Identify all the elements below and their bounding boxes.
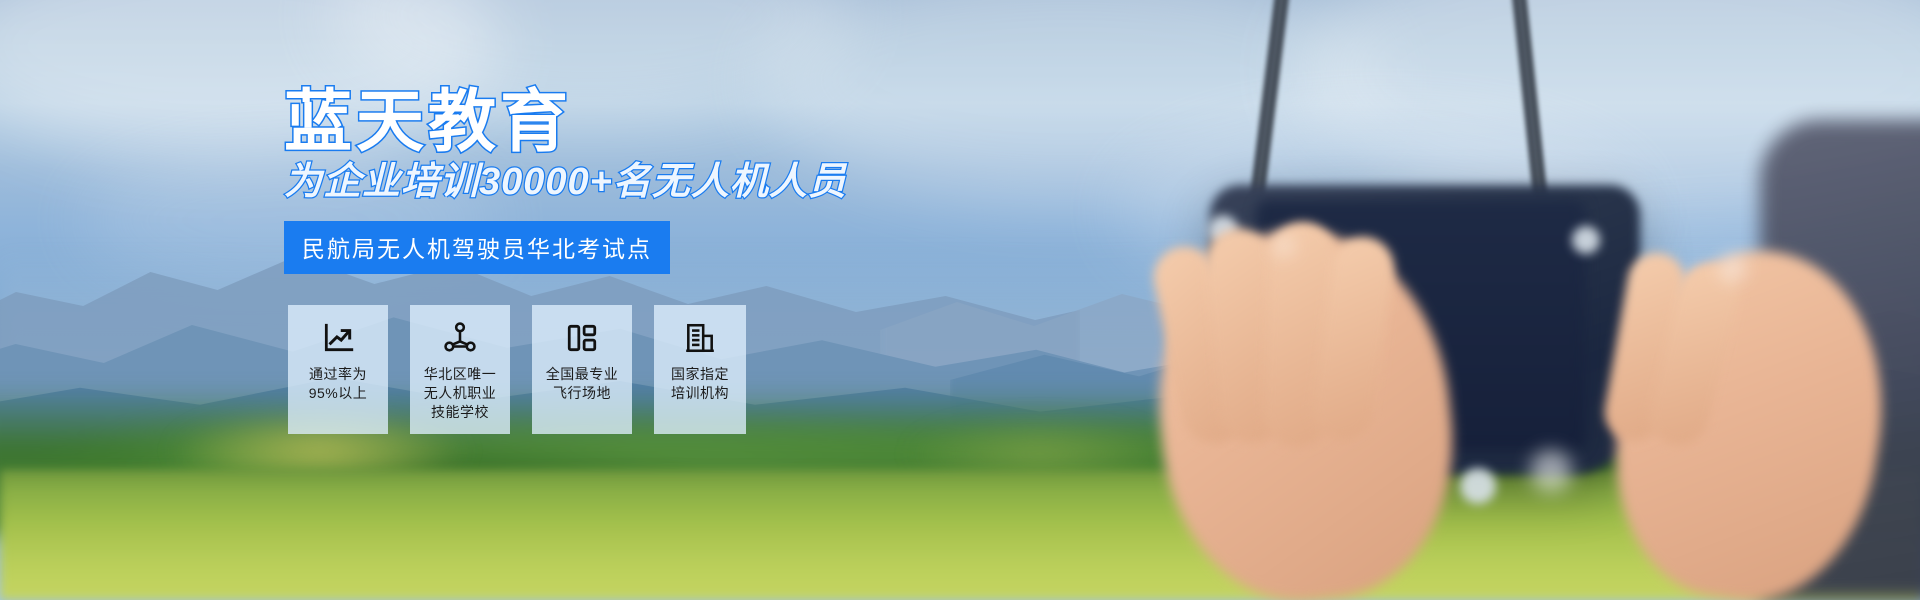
layout-grid-icon <box>565 321 599 355</box>
hero-banner: 蓝天教育 为企业培训30000+名无人机人员 民航局无人机驾驶员华北考试点 通过… <box>0 0 1920 600</box>
exam-center-badge: 民航局无人机驾驶员华北考试点 <box>284 221 670 274</box>
building-icon <box>683 321 717 355</box>
feature-card-label: 通过率为 95%以上 <box>309 365 368 403</box>
banner-content: 蓝天教育 为企业培训30000+名无人机人员 民航局无人机驾驶员华北考试点 通过… <box>0 0 1920 600</box>
network-nodes-icon <box>443 321 477 355</box>
banner-subtitle: 为企业培训30000+名无人机人员 <box>284 163 847 201</box>
feature-card-pass-rate[interactable]: 通过率为 95%以上 <box>288 305 388 434</box>
feature-card-institution[interactable]: 国家指定 培训机构 <box>654 305 746 434</box>
chart-growth-icon <box>321 321 355 355</box>
feature-card-label: 全国最专业 飞行场地 <box>546 365 619 403</box>
feature-card-label: 华北区唯一 无人机职业 技能学校 <box>424 365 497 422</box>
feature-card-field[interactable]: 全国最专业 飞行场地 <box>532 305 632 434</box>
feature-card-label: 国家指定 培训机构 <box>671 365 729 403</box>
banner-title: 蓝天教育 <box>284 88 572 156</box>
feature-card-list: 通过率为 95%以上 华北区唯一 无人机职业 技能学校 <box>288 305 746 434</box>
feature-card-school[interactable]: 华北区唯一 无人机职业 技能学校 <box>410 305 510 434</box>
